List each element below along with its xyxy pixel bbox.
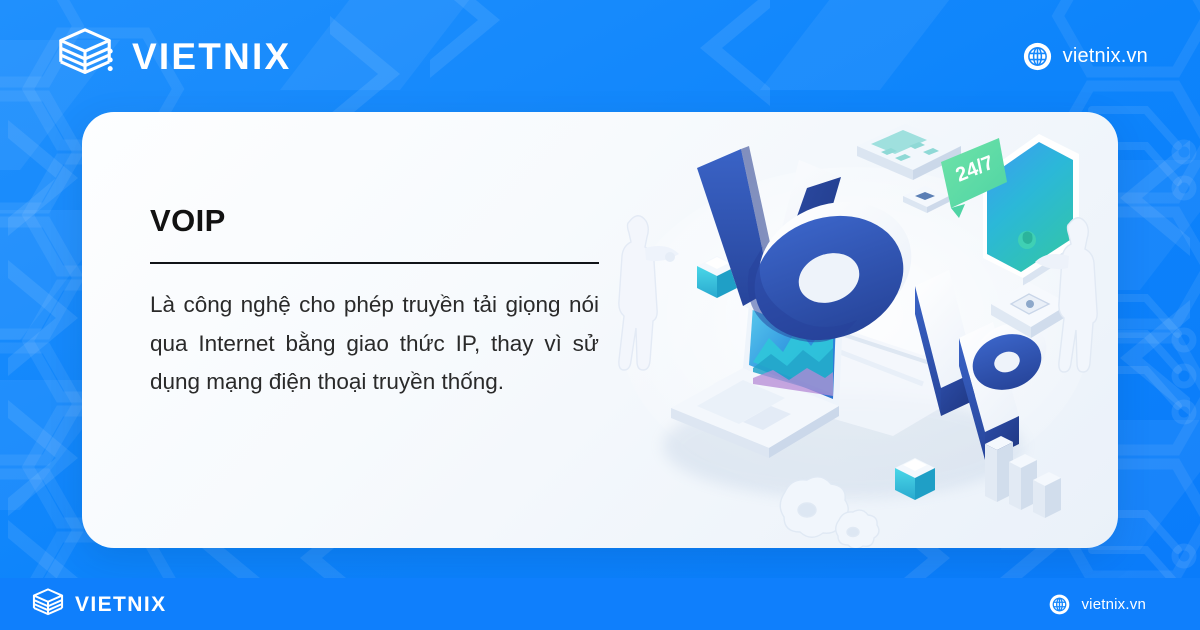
voip-isometric-illustration: 24/7 xyxy=(599,112,1118,548)
page-title: VOIP xyxy=(150,205,599,236)
term-card: VOIP Là công nghệ cho phép truyền tải gi… xyxy=(82,112,1118,548)
stacked-layers-icon xyxy=(54,25,116,87)
poster-page: VIETNIX vietnix.vn VOIP Là công nghệ ch xyxy=(0,0,1200,630)
footer-brand-logo[interactable]: VIETNIX xyxy=(30,586,166,622)
term-description: Là công nghệ cho phép truyền tải giọng n… xyxy=(150,286,599,402)
brand-name: VIETNIX xyxy=(132,38,291,75)
footer-brand-name: VIETNIX xyxy=(75,594,166,615)
globe-icon xyxy=(1023,42,1052,71)
page-footer: VIETNIX vietnix.vn xyxy=(0,578,1200,630)
title-divider xyxy=(150,262,599,264)
brand-logo[interactable]: VIETNIX xyxy=(54,25,291,87)
website-link[interactable]: vietnix.vn xyxy=(1023,42,1148,71)
footer-website-url: vietnix.vn xyxy=(1081,596,1146,613)
website-url: vietnix.vn xyxy=(1063,45,1148,68)
bar-chart-shape xyxy=(985,436,1061,518)
page-header: VIETNIX vietnix.vn xyxy=(0,0,1200,112)
term-text-block: VOIP Là công nghệ cho phép truyền tải gi… xyxy=(82,112,599,548)
globe-icon xyxy=(1049,594,1070,615)
footer-website-link[interactable]: vietnix.vn xyxy=(1049,594,1146,615)
stacked-layers-icon xyxy=(30,586,66,622)
